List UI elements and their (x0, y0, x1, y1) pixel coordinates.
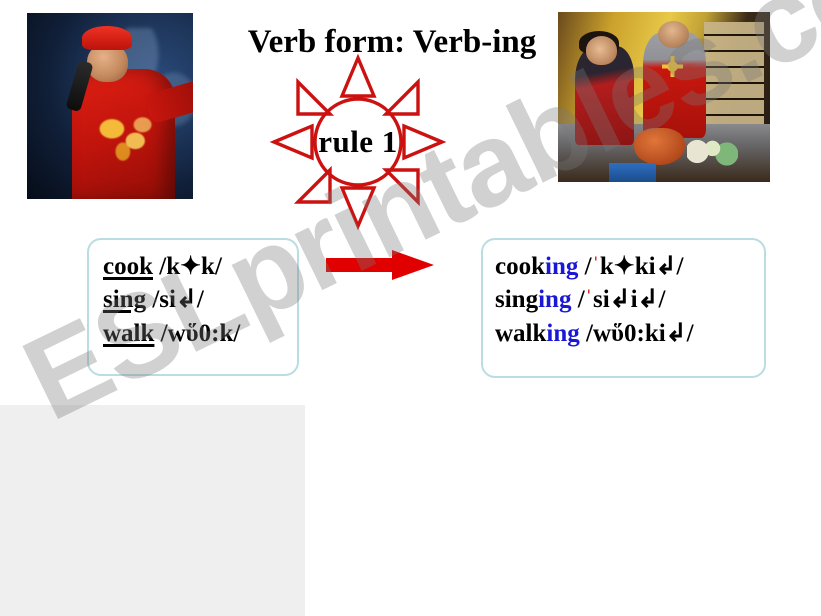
base-verb-box: cook /k✦k/ sing /si↲/ walk /wὕ0:k/ (87, 238, 299, 376)
base-verb: walk (103, 320, 154, 347)
dragon-embroidery (90, 102, 163, 169)
base-verb: cook (495, 253, 545, 280)
ing-suffix: ing (545, 253, 578, 280)
chopped-vegetables (687, 136, 738, 167)
portable-stove (609, 163, 656, 182)
ing-suffix: ing (538, 286, 571, 313)
stress-mark: ˈ (585, 286, 593, 313)
base-verb: cook (103, 253, 153, 280)
walking-figure-panel (0, 405, 305, 616)
rule-label: rule 1 (268, 52, 448, 232)
ing-suffix: ing (546, 320, 579, 347)
transform-arrow (326, 248, 436, 282)
list-item: cook /k✦k/ (103, 250, 297, 283)
man-in-apron (643, 32, 707, 137)
list-item: walk /wὕ0:k/ (103, 317, 297, 350)
rule-sunburst: rule 1 (268, 52, 448, 232)
base-verb: sing (495, 286, 538, 313)
slide-canvas: Verb form: Verb-ing (0, 0, 821, 616)
list-item: walking /wὕ0:ki↲/ (495, 317, 764, 350)
ipa-open-slash: / (578, 286, 585, 313)
arrow-right-icon (326, 250, 434, 280)
singer-turban (82, 26, 132, 50)
base-verb: sing (103, 286, 146, 313)
base-verb-list: cook /k✦k/ sing /si↲/ walk /wὕ0:k/ (89, 240, 297, 350)
ipa-transcription: wὕ0:ki↲/ (593, 320, 694, 347)
ing-verb-list: cooking /ˈk✦ki↲/ singing /ˈsi↲i↲/ walkin… (483, 240, 764, 350)
ipa-open-slash: / (585, 253, 592, 280)
ipa-transcription: /k✦k/ (159, 253, 222, 280)
base-verb: walk (495, 320, 546, 347)
list-item: cooking /ˈk✦ki↲/ (495, 250, 764, 283)
ipa-transcription: k✦ki↲/ (600, 253, 684, 280)
ipa-transcription: /wὕ0:k/ (161, 320, 241, 347)
ing-verb-box: cooking /ˈk✦ki↲/ singing /ˈsi↲i↲/ walkin… (481, 238, 766, 378)
woman-head (586, 36, 618, 65)
cooking-photo (558, 12, 770, 182)
ipa-open-slash: / (586, 320, 593, 347)
list-item: singing /ˈsi↲i↲/ (495, 283, 764, 316)
apron-emblem (662, 56, 683, 76)
stress-mark: ˈ (592, 253, 600, 280)
ipa-transcription: /si↲/ (152, 286, 204, 313)
ipa-transcription: si↲i↲/ (593, 286, 665, 313)
list-item: sing /si↲/ (103, 283, 297, 316)
singer-photo (27, 13, 193, 199)
man-head (658, 21, 690, 48)
cooking-pot (634, 128, 685, 165)
